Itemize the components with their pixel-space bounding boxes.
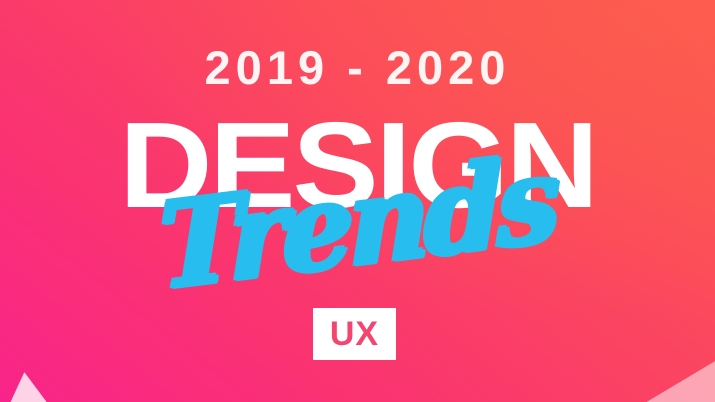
year-range-label: 2019 - 2020 <box>0 44 715 91</box>
page-title: DESIGN <box>0 104 715 226</box>
ux-badge-label: UX <box>330 317 379 351</box>
bottom-left-triangle-icon <box>5 370 46 402</box>
ux-badge: UX <box>313 308 396 360</box>
bottom-right-triangle-icon <box>623 354 715 402</box>
design-trends-poster: 2019 - 2020 DESIGN Trends UX <box>0 0 715 402</box>
